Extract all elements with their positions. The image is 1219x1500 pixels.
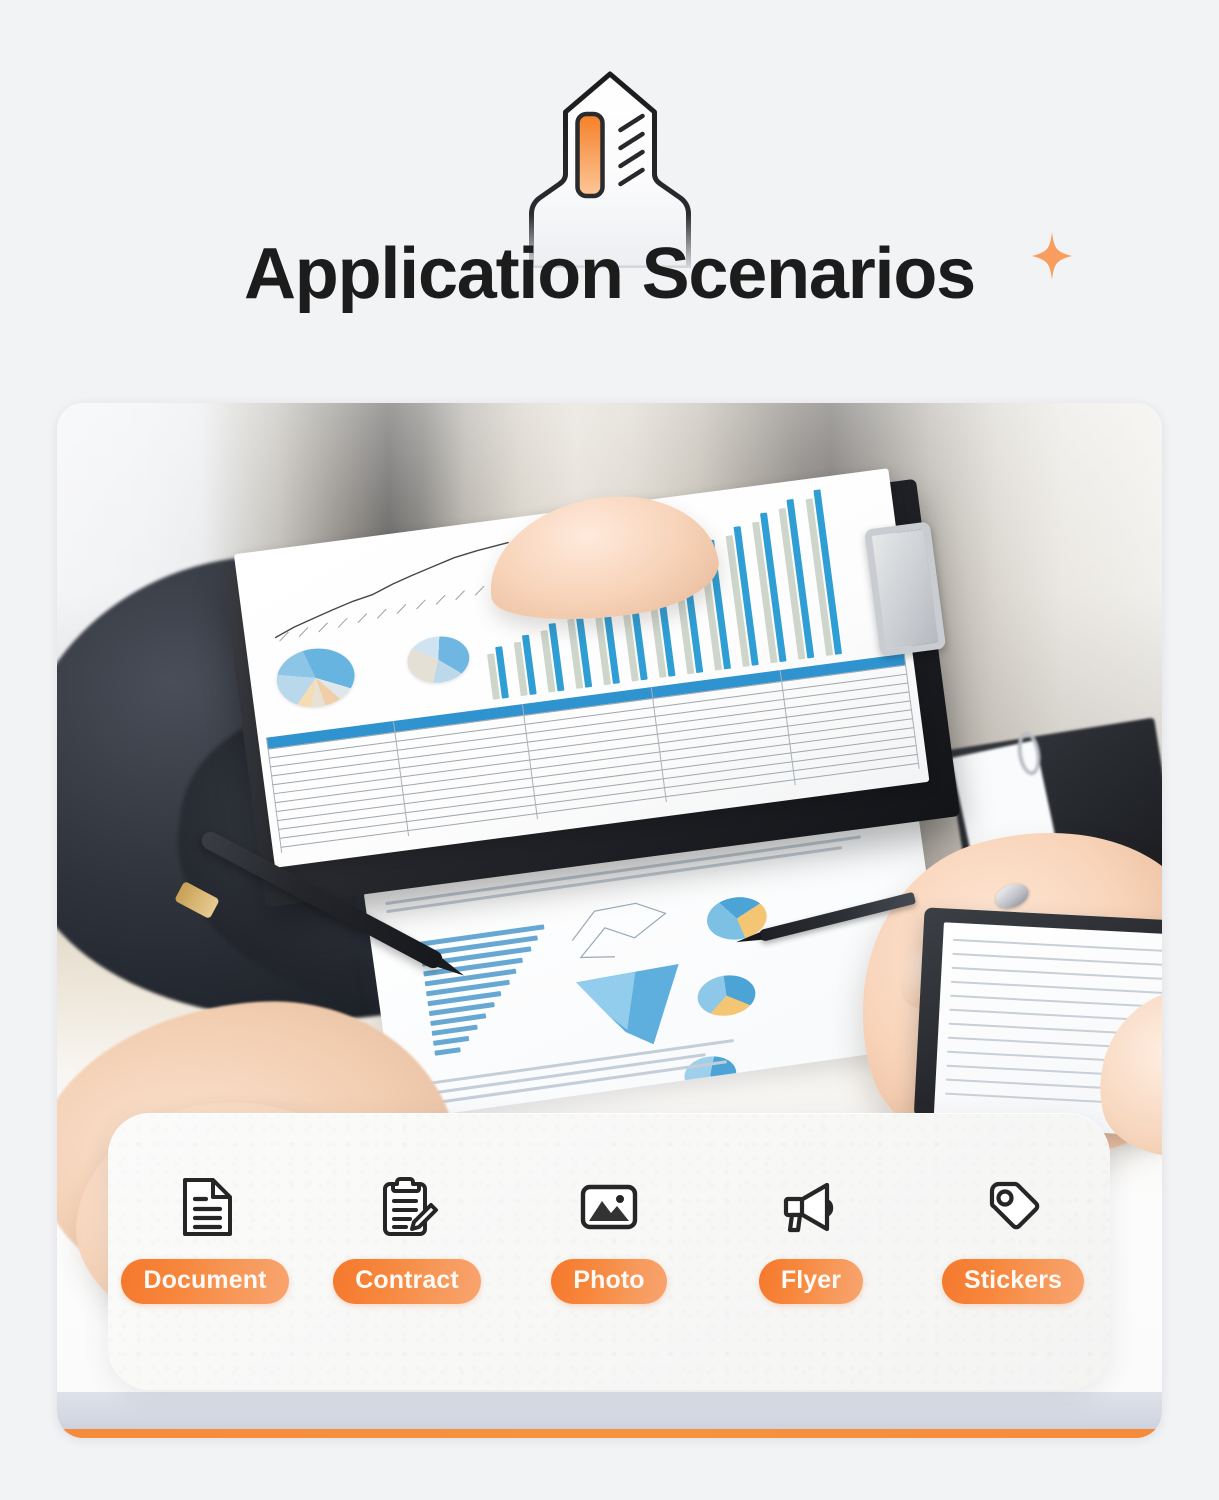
sparkle-star-icon: [1032, 232, 1072, 280]
megaphone-icon: [775, 1171, 847, 1243]
image-picture-icon: [573, 1171, 645, 1243]
price-tag-icon: [977, 1171, 1049, 1243]
scenario-item-stickers[interactable]: Stickers: [933, 1171, 1093, 1304]
scenario-item-document[interactable]: Document: [125, 1171, 285, 1304]
report-funnel-chart: [573, 961, 693, 1056]
scenario-label-contract[interactable]: Contract: [333, 1259, 481, 1304]
scenario-label-photo[interactable]: Photo: [551, 1259, 666, 1304]
report-pie-chart-right: [405, 633, 472, 687]
scenario-label-stickers[interactable]: Stickers: [942, 1259, 1084, 1304]
report-pie-chart-left: [273, 644, 358, 712]
document-page-icon: [169, 1171, 241, 1243]
application-scenarios-page: Application Scenarios: [0, 0, 1219, 1500]
photo-card-orange-accent: [57, 1429, 1162, 1438]
scenario-item-photo[interactable]: Photo: [529, 1171, 689, 1304]
scenario-tags-row: Document: [108, 1171, 1110, 1304]
report-pie-chart-2: [695, 972, 758, 1020]
page-header: Application Scenarios: [0, 0, 1219, 392]
clipboard-pencil-icon: [371, 1171, 443, 1243]
scenario-label-document[interactable]: Document: [121, 1259, 288, 1304]
scenario-item-flyer[interactable]: Flyer: [731, 1171, 891, 1304]
report-horizontal-bars: [419, 924, 564, 1061]
scenario-tags-panel: Document: [108, 1113, 1110, 1390]
report-scatter-plot: [564, 892, 682, 969]
scenario-label-flyer[interactable]: Flyer: [759, 1259, 863, 1304]
scenario-item-contract[interactable]: Contract: [327, 1171, 487, 1304]
